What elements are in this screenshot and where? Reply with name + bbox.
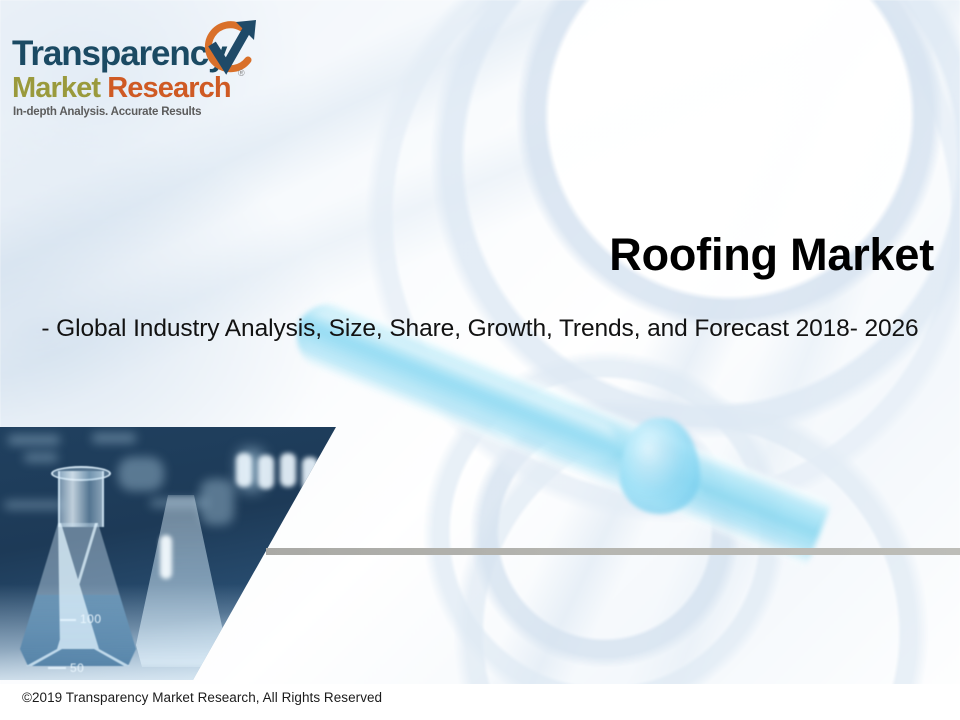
checkmark-arrow-icon [198,18,264,80]
flask-marking-100: 100 [80,612,102,626]
page-subtitle: - Global Industry Analysis, Size, Share,… [0,315,960,343]
logo-word-market: Market [12,72,100,104]
registered-trademark-icon: ® [238,68,245,78]
logo-wordmark-transparency: Transparency [12,34,226,74]
page-title: Roofing Market [0,231,934,278]
flask-neck [58,471,104,527]
flask-marking-50: 50 [70,661,84,675]
divider-rule [266,548,960,555]
background-flask-highlight [160,535,172,579]
logo[interactable]: Transparency Market Research In-depth An… [12,24,262,124]
logo-tagline: In-depth Analysis. Accurate Results [13,106,201,118]
footer-copyright: ©2019 Transparency Market Research, All … [22,690,382,705]
report-cover-slide: 100 50 25 Transparency Market Research I… [0,0,960,720]
erlenmeyer-flask: 100 50 25 [18,471,138,666]
